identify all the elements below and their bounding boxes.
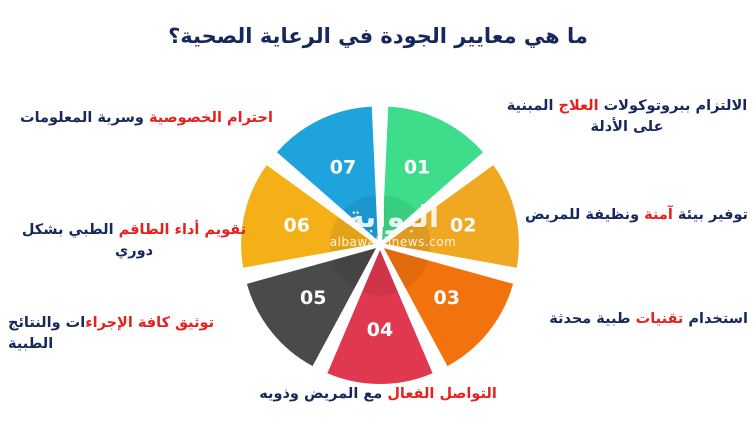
callout-02-part-3: ونظيفة للمريض <box>525 207 644 223</box>
callout-04-part-1-highlight: التواصل الفعال <box>387 386 496 402</box>
pie-slice-number-03: 03 <box>434 287 460 309</box>
callout-label-01: الالتزام ببروتوكولات العلاج المبنية على … <box>506 96 748 138</box>
pie-chart-svg: 01020304050607 <box>245 110 515 380</box>
page-title: ما هي معايير الجودة في الرعاية الصحية؟ <box>0 22 756 50</box>
callout-03-part-3: طبية محدثة <box>549 311 635 327</box>
callout-06-part-1-highlight: تقويم أداء الطاقم <box>119 222 247 238</box>
pie-slice-number-05: 05 <box>300 287 326 309</box>
pie-slice-number-02: 02 <box>450 215 476 237</box>
pie-slice-number-01: 01 <box>404 157 430 179</box>
callout-02-part-1: توفير بيئة <box>673 207 748 223</box>
callout-05-part-1-highlight: توثيق كافة الإجراء <box>85 315 214 331</box>
infographic-canvas: ما هي معايير الجودة في الرعاية الصحية؟ 0… <box>0 0 756 427</box>
pie-slice-number-04: 04 <box>367 319 393 341</box>
pie-slice-number-07: 07 <box>330 157 356 179</box>
callout-05-part-2: ات والنتائج الطبية <box>8 315 85 352</box>
pie-chart: 01020304050607 <box>245 110 515 380</box>
callout-label-06: تقويم أداء الطاقم الطبي بشكل دوري <box>8 220 260 262</box>
callout-07-part-2: وسرية المعلومات <box>20 110 149 126</box>
pie-slice-number-06: 06 <box>284 215 310 237</box>
callout-01-part-1: الالتزام ببروتوكولات <box>599 98 748 114</box>
callout-04-part-2: مع المريض وذويه <box>259 386 387 402</box>
callout-label-05: توثيق كافة الإجراءات والنتائج الطبية <box>8 313 258 355</box>
callout-01-part-2-highlight: العلاج <box>559 98 599 114</box>
callout-03-part-2-highlight: تقنيات <box>636 311 684 327</box>
callout-07-part-1-highlight: احترام الخصوصية <box>149 110 273 126</box>
pie-slice-group <box>241 107 519 384</box>
callout-label-02: توفير بيئة آمنة ونظيفة للمريض <box>512 205 748 226</box>
callout-label-03: استخدام تقنيات طبية محدثة <box>500 309 748 330</box>
callout-03-part-1: استخدام <box>683 311 748 327</box>
callout-label-07: احترام الخصوصية وسرية المعلومات <box>20 108 280 129</box>
callout-02-part-2-highlight: آمنة <box>644 207 673 223</box>
callout-label-04: التواصل الفعال مع المريض وذويه <box>0 384 756 405</box>
